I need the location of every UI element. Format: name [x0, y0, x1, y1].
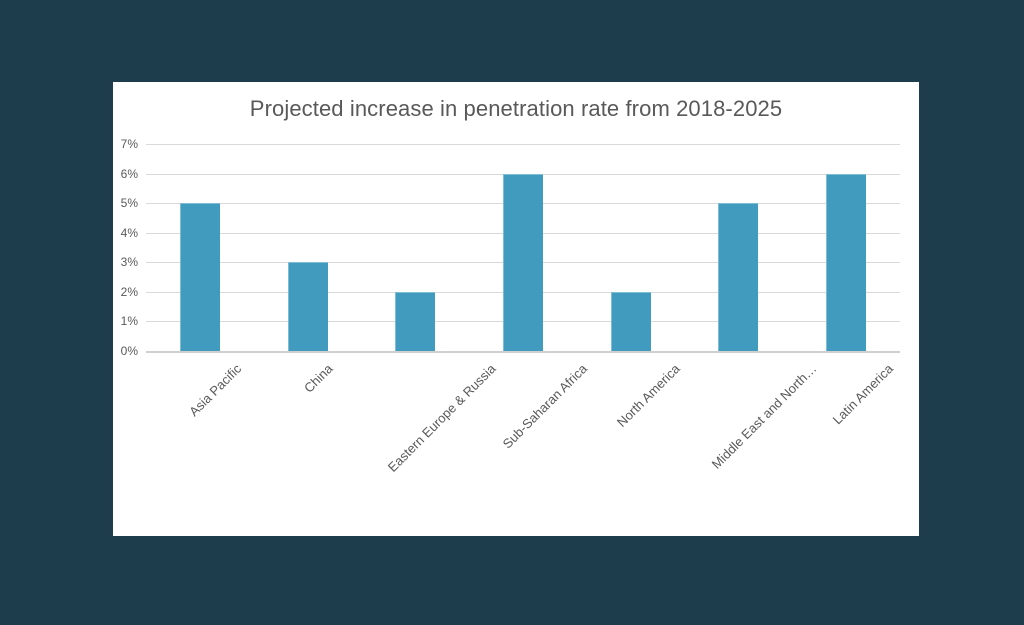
bar-slot [361, 144, 469, 351]
chart-title: Projected increase in penetration rate f… [113, 96, 919, 122]
bar[interactable] [611, 292, 651, 351]
y-axis-tick-label: 7% [121, 137, 138, 151]
bar[interactable] [288, 262, 328, 351]
x-axis-label-slot: Eastern Europe & Russia [361, 353, 469, 533]
bar[interactable] [395, 292, 435, 351]
chart-card: Projected increase in penetration rate f… [113, 82, 919, 536]
bar[interactable] [503, 174, 543, 351]
bar[interactable] [718, 203, 758, 351]
bar-slot [792, 144, 900, 351]
x-axis-tick-label: North America [614, 361, 683, 430]
bar-slot [685, 144, 793, 351]
plot-area: 7%6%5%4%3%2%1%0% [146, 144, 900, 351]
x-axis-tick-labels: Asia PacificChinaEastern Europe & Russia… [146, 353, 900, 533]
bar-series [146, 144, 900, 351]
screenshot-canvas: Projected increase in penetration rate f… [0, 0, 1024, 625]
bar-slot [469, 144, 577, 351]
bar-slot [577, 144, 685, 351]
x-axis-label-slot: China [254, 353, 362, 533]
x-axis-tick-label: Latin America [830, 361, 896, 427]
y-axis-tick-label: 5% [121, 196, 138, 210]
bar-slot [146, 144, 254, 351]
y-axis-tick-label: 1% [121, 314, 138, 328]
y-axis-tick-label: 0% [121, 344, 138, 358]
bar-slot [254, 144, 362, 351]
x-axis-tick-label: Asia Pacific [186, 361, 244, 419]
x-axis-tick-label: China [301, 361, 336, 396]
x-axis-label-slot: Asia Pacific [146, 353, 254, 533]
x-axis-label-slot: Sub-Saharan Africa [469, 353, 577, 533]
bar[interactable] [826, 174, 866, 351]
x-axis-label-slot: Middle East and North… [685, 353, 793, 533]
x-axis-label-slot: North America [577, 353, 685, 533]
y-axis-tick-label: 2% [121, 285, 138, 299]
y-axis-tick-label: 3% [121, 255, 138, 269]
y-axis-tick-label: 4% [121, 226, 138, 240]
y-axis-tick-label: 6% [121, 167, 138, 181]
x-axis-label-slot: Latin America [792, 353, 900, 533]
bar[interactable] [180, 203, 220, 351]
